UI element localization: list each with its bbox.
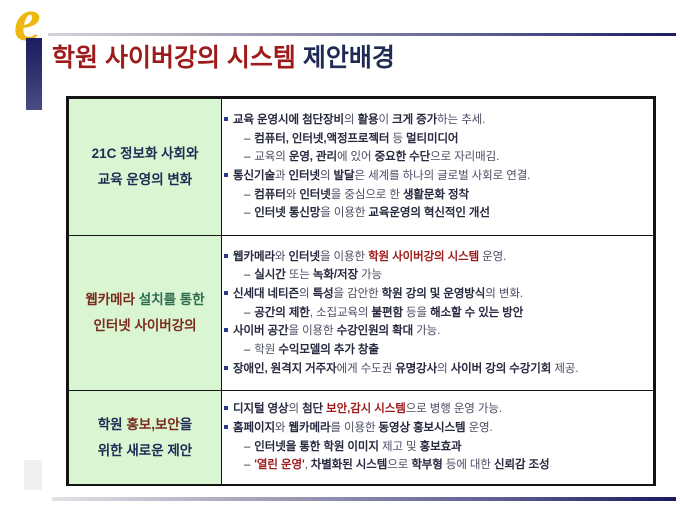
bullet-text-segment: 신세대 네티즌 <box>233 288 299 300</box>
bullet-text-segment: 학원 사이버강의 시스템 <box>368 251 479 263</box>
bullet-text-segment: 가능 <box>358 269 382 281</box>
bullet-text-segment: 디지털 영상 <box>233 403 289 415</box>
bullet-text-segment: 수강인원의 확대 <box>337 325 413 337</box>
bullet-text-segment: 교육의 <box>254 151 289 163</box>
bullet-text-segment: 첨단장비 <box>302 114 344 126</box>
bullet-item: 통신기술과 인터넷의 발달은 세계를 하나의 글로벌 사회로 연결. <box>222 167 653 186</box>
sub-bullet-item: –컴퓨터와 인터넷을 중심으로 한 생활문화 정착 <box>222 186 653 205</box>
bullet-text-segment: 을 이용한 <box>320 251 368 263</box>
bullet-text-segment: 등 <box>389 133 406 145</box>
table-row: 21C 정보화 사회와교육 운영의 변화교육 운영시에 첨단장비의 활용이 크게… <box>69 99 654 236</box>
row-content-cell: 웹카메라와 인터넷을 이용한 학원 사이버강의 시스템 운영.–실시간 또는 녹… <box>222 236 654 391</box>
bullet-text-segment: 사이버 강의 수강기회 <box>451 363 552 375</box>
bullet-text-segment: 실시간 <box>254 269 285 281</box>
bullet-text-segment: 의 <box>437 363 451 375</box>
bullet-text-segment: 수익모델의 추가 창출 <box>278 344 379 356</box>
bullet-text-segment: 통신기술 <box>233 170 275 182</box>
bullet-text-segment: 의 변화. <box>485 288 523 300</box>
bullet-text-segment: 인터넷 <box>289 170 320 182</box>
left-footer-tab <box>24 460 42 490</box>
bullet-text-segment: 으로 <box>387 459 411 471</box>
row-label-cell: 학원 홍보,보안을위한 새로운 제안 <box>69 391 222 485</box>
row-label-cell: 웹카메라 설치를 통한인터넷 사이버강의 <box>69 236 222 391</box>
bullet-text-segment: 와 <box>286 189 300 201</box>
bullet-text-segment: 와 <box>275 251 289 263</box>
bullet-text-segment: 인터넷을 통한 학원 이미지 <box>254 441 379 453</box>
row-label-line: 인터넷 사이버강의 <box>69 313 221 339</box>
bullet-item: 신세대 네티즌의 특성을 감안한 학원 강의 및 운영방식의 변화. <box>222 285 653 304</box>
bullet-text-segment: 해소할 수 있는 방안 <box>430 307 523 319</box>
square-bullet-icon <box>224 117 228 121</box>
bullet-text-segment: 의 <box>344 114 358 126</box>
square-bullet-icon <box>224 254 228 258</box>
bullet-text-segment: 차별화된 시스템 <box>311 459 387 471</box>
bullet-text-segment: 으로 자리매김. <box>430 151 499 163</box>
bullet-text-segment: 크게 증가 <box>392 114 437 126</box>
dash-bullet-icon: – <box>244 344 250 356</box>
bullet-text-segment: 웹카메라 <box>233 251 275 263</box>
square-bullet-icon <box>224 366 228 370</box>
sub-bullet-item: –인터넷 통신망을 이용한 교육운영의 혁신적인 개선 <box>222 204 653 223</box>
bullet-text-segment: 가능. <box>413 325 440 337</box>
bullet-text-segment: 유명강사 <box>395 363 437 375</box>
dash-bullet-icon: – <box>244 441 250 453</box>
square-bullet-icon <box>224 173 228 177</box>
bullet-text-segment: 신뢰감 조성 <box>494 459 550 471</box>
bullet-list: 웹카메라와 인터넷을 이용한 학원 사이버강의 시스템 운영.–실시간 또는 녹… <box>222 248 653 378</box>
dash-bullet-icon: – <box>244 133 250 145</box>
bullet-text-segment: 을 중심으로 한 <box>331 189 403 201</box>
sub-bullet-item: –컴퓨터, 인터넷,액정프로젝터 등 멀티미디어 <box>222 130 653 149</box>
label-text-segment: 인터넷 사이버강의 <box>93 318 196 333</box>
label-text-segment: 교육 운영의 변화 <box>98 172 192 187</box>
left-accent-bar <box>26 38 42 110</box>
bullet-text-segment: 컴퓨터 <box>254 189 285 201</box>
bullet-text-segment: 의 <box>299 288 313 300</box>
square-bullet-icon <box>224 291 228 295</box>
label-text-segment: 위한 <box>98 443 127 458</box>
bullet-text-segment: 동영상 홍보시스템 <box>379 422 466 434</box>
matrix-body: 21C 정보화 사회와교육 운영의 변화교육 운영시에 첨단장비의 활용이 크게… <box>69 99 654 485</box>
bullet-text-segment: , 소집교육의 <box>310 307 372 319</box>
row-label-line: 21C 정보화 사회와 <box>69 141 221 167</box>
bullet-text-segment: 장애인, 원격지 거주자 <box>233 363 337 375</box>
row-label-line: 학원 홍보,보안을 <box>69 412 221 438</box>
page-title-rest: 제안배경 <box>303 44 395 72</box>
bullet-text-segment: 중요한 수단 <box>375 151 431 163</box>
bullet-text-segment: 특성 <box>313 288 334 300</box>
label-text-segment: 을 <box>180 417 192 432</box>
bullet-text-segment: 의 <box>289 403 303 415</box>
dash-bullet-icon: – <box>244 269 250 281</box>
bullet-text-segment: 멀티미디어 <box>406 133 458 145</box>
dash-bullet-icon: – <box>244 189 250 201</box>
square-bullet-icon <box>224 328 228 332</box>
bullet-text-segment: 또는 <box>286 269 313 281</box>
table-row: 학원 홍보,보안을위한 새로운 제안디지털 영상의 첨단 보안,감시 시스템으로… <box>69 391 654 485</box>
bullet-text-segment: 이 <box>379 114 393 126</box>
bullet-text-segment: 컴퓨터, 인터넷,액정프로젝터 <box>254 133 389 145</box>
bullet-item: 디지털 영상의 첨단 보안,감시 시스템으로 병행 운영 가능. <box>222 400 653 419</box>
top-divider-rule <box>48 33 676 36</box>
label-text-segment: 새로운 제안 <box>126 443 192 458</box>
dash-bullet-icon: – <box>244 207 250 219</box>
bullet-text-segment: 녹화/저장 <box>313 269 358 281</box>
bullet-text-segment: 을 감안한 <box>334 288 382 300</box>
label-text-segment: 21C 정보화 사회와 <box>92 146 199 161</box>
bullet-text-segment: 를 이용한 <box>330 422 378 434</box>
dash-bullet-icon: – <box>244 307 250 319</box>
bullet-text-segment: 불편함 <box>371 307 402 319</box>
bullet-text-segment: 발달 <box>334 170 355 182</box>
bullet-text-segment: 에 있어 <box>337 151 375 163</box>
sub-bullet-item: –학원 수익모델의 추가 창출 <box>222 341 653 360</box>
dash-bullet-icon: – <box>244 151 250 163</box>
bullet-text-segment: 학원 강의 및 운영방식 <box>382 288 486 300</box>
bullet-text-segment: 인터넷 <box>299 189 330 201</box>
table-row: 웹카메라 설치를 통한인터넷 사이버강의웹카메라와 인터넷을 이용한 학원 사이… <box>69 236 654 391</box>
bullet-text-segment: 교육 운영시에 <box>233 114 302 126</box>
bullet-text-segment: 첨단 <box>302 403 326 415</box>
bullet-text-segment: 운영. <box>479 251 506 263</box>
sub-bullet-item: –'열린 운영', 차별화된 시스템으로 학부형 등에 대한 신뢰감 조성 <box>222 456 653 475</box>
sub-bullet-item: –인터넷을 통한 학원 이미지 제고 및 홍보효과 <box>222 438 653 457</box>
bullet-list: 교육 운영시에 첨단장비의 활용이 크게 증가하는 추세.–컴퓨터, 인터넷,액… <box>222 111 653 223</box>
bullet-text-segment: 제고 및 <box>379 441 420 453</box>
dash-bullet-icon: – <box>244 459 250 471</box>
bullet-text-segment: 웹카메라 <box>289 422 331 434</box>
bullet-text-segment: '열린 운영' <box>254 459 304 471</box>
label-text-segment: 설치를 통한 <box>135 292 205 307</box>
bullet-text-segment: 홍보효과 <box>420 441 462 453</box>
bullet-text-segment: 생활문화 정착 <box>403 189 469 201</box>
row-label-cell: 21C 정보화 사회와교육 운영의 변화 <box>69 99 222 236</box>
bullet-text-segment: 보안,감시 시스템 <box>326 403 406 415</box>
bullet-text-segment: 등에 대한 <box>443 459 494 471</box>
bullet-text-segment: 을 이용한 <box>289 325 337 337</box>
square-bullet-icon <box>224 406 228 410</box>
sub-bullet-item: –교육의 운영, 관리에 있어 중요한 수단으로 자리매김. <box>222 148 653 167</box>
bullet-text-segment: 은 세계를 하나의 글로벌 사회로 연결. <box>355 170 531 182</box>
sub-bullet-item: –실시간 또는 녹화/저장 가능 <box>222 266 653 285</box>
bullet-text-segment: 와 <box>275 422 289 434</box>
bullet-text-segment: 으로 병행 운영 가능. <box>406 403 502 415</box>
bullet-item: 교육 운영시에 첨단장비의 활용이 크게 증가하는 추세. <box>222 111 653 130</box>
page-title: 학원 사이버강의 시스템 제안배경 <box>52 45 395 73</box>
bullet-text-segment: 학원 <box>254 344 278 356</box>
bullet-item: 웹카메라와 인터넷을 이용한 학원 사이버강의 시스템 운영. <box>222 248 653 267</box>
row-content-cell: 교육 운영시에 첨단장비의 활용이 크게 증가하는 추세.–컴퓨터, 인터넷,액… <box>222 99 654 236</box>
bullet-text-segment: 운영. <box>465 422 492 434</box>
row-label-line: 교육 운영의 변화 <box>69 167 221 193</box>
row-content-cell: 디지털 영상의 첨단 보안,감시 시스템으로 병행 운영 가능.홈페이지와 웹카… <box>222 391 654 485</box>
label-text-segment: 웹카메라 <box>85 292 135 307</box>
bullet-text-segment: 학부형 <box>411 459 442 471</box>
bullet-text-segment: 인터넷 통신망 <box>254 207 320 219</box>
bullet-text-segment: 활용 <box>358 114 379 126</box>
bullet-text-segment: 의 <box>320 170 334 182</box>
bullet-item: 홈페이지와 웹카메라를 이용한 동영상 홍보시스템 운영. <box>222 419 653 438</box>
matrix-table: 21C 정보화 사회와교육 운영의 변화교육 운영시에 첨단장비의 활용이 크게… <box>68 98 654 485</box>
bullet-text-segment: 교육운영의 혁신적인 개선 <box>368 207 489 219</box>
bullet-text-segment: 하는 추세. <box>437 114 485 126</box>
row-label-line: 웹카메라 설치를 통한 <box>69 287 221 313</box>
row-label-line: 위한 새로운 제안 <box>69 438 221 464</box>
bottom-divider-rule <box>52 497 676 501</box>
square-bullet-icon <box>224 425 228 429</box>
bullet-item: 장애인, 원격지 거주자에게 수도권 유명강사의 사이버 강의 수강기회 제공. <box>222 360 653 379</box>
bullet-text-segment: 등을 <box>403 307 430 319</box>
bullet-text-segment: 사이버 공간 <box>233 325 289 337</box>
bullet-item: 사이버 공간을 이용한 수강인원의 확대 가능. <box>222 322 653 341</box>
bullet-text-segment: 제공. <box>551 363 578 375</box>
proposal-background-table: 21C 정보화 사회와교육 운영의 변화교육 운영시에 첨단장비의 활용이 크게… <box>66 96 656 486</box>
bullet-text-segment: 공간의 제한 <box>254 307 310 319</box>
label-text-segment: 홍보,보안 <box>126 417 179 432</box>
sub-bullet-item: –공간의 제한, 소집교육의 불편함 등을 해소할 수 있는 방안 <box>222 304 653 323</box>
bullet-text-segment: 인터넷 <box>289 251 320 263</box>
bullet-list: 디지털 영상의 첨단 보안,감시 시스템으로 병행 운영 가능.홈페이지와 웹카… <box>222 400 653 475</box>
bullet-text-segment: 을 이용한 <box>320 207 368 219</box>
page-title-highlight: 학원 사이버강의 시스템 <box>52 44 296 72</box>
label-text-segment: 학원 <box>98 417 127 432</box>
bullet-text-segment: 과 <box>275 170 289 182</box>
bullet-text-segment: 홈페이지 <box>233 422 275 434</box>
bullet-text-segment: 운영, 관리 <box>289 151 337 163</box>
bullet-text-segment: 에게 수도권 <box>337 363 396 375</box>
